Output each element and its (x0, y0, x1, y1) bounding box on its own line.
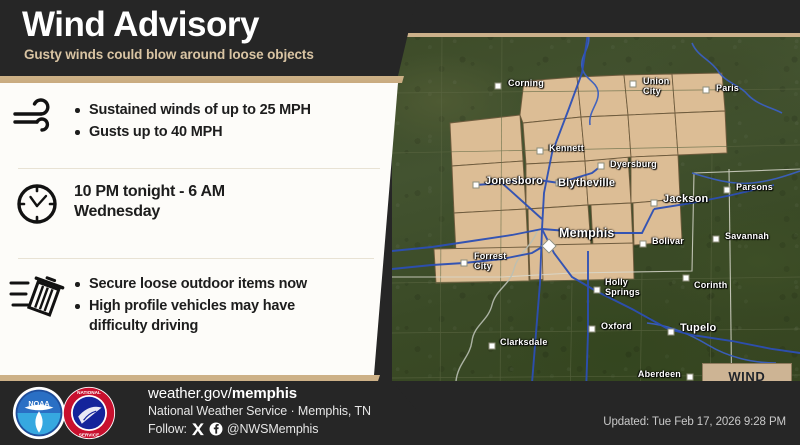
wind-bullet-list: Sustained winds of up to 25 MPH Gusts up… (74, 100, 311, 142)
section-timing: 10 PM tonight - 6 AM Wednesday (0, 180, 392, 228)
timing-line-1: 10 PM tonight - 6 AM (74, 182, 225, 202)
wind-icon-container (0, 98, 74, 138)
city-label: Oxford (601, 322, 632, 332)
city-label: Holly Springs (605, 278, 640, 297)
follow-label: Follow: (148, 422, 187, 436)
header-divider-bar (0, 76, 404, 83)
city-label: Forrest City (474, 252, 506, 271)
section-preparedness: Secure loose outdoor items now High prof… (0, 272, 392, 338)
city-label: Memphis (559, 229, 615, 239)
follow-line: Follow: @NWSMemphis (148, 422, 318, 436)
city-marker (703, 87, 710, 94)
city-label: Jonesboro (485, 177, 543, 187)
city-label: Blytheville (558, 179, 615, 189)
city-marker (668, 329, 675, 336)
preparedness-text-block: Secure loose outdoor items now High prof… (74, 272, 322, 338)
timing-line-2: Wednesday (74, 202, 225, 222)
city-label: Kennett (549, 144, 584, 154)
preparedness-bullet-2: High profile vehicles may have difficult… (74, 296, 322, 336)
wind-advisory-graphic: CorningKennettUnion CityParisDyersburgJo… (0, 0, 800, 445)
city-label: Union City (643, 77, 670, 96)
advisory-map[interactable]: CorningKennettUnion CityParisDyersburgJo… (392, 33, 800, 413)
header-bar: Wind Advisory Gusty winds could blow aro… (0, 0, 416, 76)
national-weather-service-logo: NATIONAL SERVICE (62, 386, 116, 440)
clock-icon (13, 180, 61, 228)
svg-text:SERVICE: SERVICE (79, 432, 99, 437)
city-marker (598, 163, 605, 170)
facebook-icon[interactable] (209, 422, 223, 436)
office-line: National Weather Service · Memphis, TN (148, 404, 371, 418)
city-marker (640, 241, 647, 248)
updated-timestamp: Updated: Tue Feb 17, 2026 9:28 PM (603, 416, 786, 428)
city-marker (489, 343, 496, 350)
city-marker (713, 236, 720, 243)
city-label: Tupelo (680, 324, 716, 334)
map-frame-top (392, 33, 800, 37)
preparedness-bullet-list: Secure loose outdoor items now High prof… (74, 274, 322, 336)
city-marker (594, 287, 601, 294)
city-label: Clarksdale (500, 338, 548, 348)
city-marker (495, 83, 502, 90)
city-marker (461, 260, 468, 267)
clock-icon-container (0, 180, 74, 228)
city-label: Savannah (725, 232, 769, 242)
trash-can-icon (8, 272, 66, 318)
divider-2 (18, 258, 374, 259)
city-marker (724, 187, 731, 194)
trash-can-icon-container (0, 272, 74, 318)
city-marker (651, 200, 658, 207)
city-marker (537, 148, 544, 155)
city-label: Corning (508, 79, 544, 89)
social-handle: @NWSMemphis (227, 422, 318, 436)
city-marker (473, 182, 480, 189)
city-label: Corinth (694, 281, 727, 291)
wind-icon (11, 98, 63, 138)
svg-text:NOAA: NOAA (28, 399, 49, 408)
wind-bullet-1: Sustained winds of up to 25 MPH (74, 100, 311, 120)
city-label: Bolivar (652, 237, 684, 247)
timing-text-block: 10 PM tonight - 6 AM Wednesday (74, 180, 225, 222)
section-wind: Sustained winds of up to 25 MPH Gusts up… (0, 98, 392, 144)
city-marker (630, 81, 637, 88)
x-icon[interactable] (191, 422, 205, 436)
page-subtitle: Gusty winds could blow around loose obje… (24, 47, 314, 62)
wind-text-block: Sustained winds of up to 25 MPH Gusts up… (74, 98, 311, 144)
city-marker (683, 275, 690, 282)
noaa-logo: NOAA (12, 386, 66, 440)
city-label: Jackson (663, 195, 708, 205)
city-label: Aberdeen (638, 370, 681, 380)
city-label: Paris (716, 84, 739, 94)
svg-text:NATIONAL: NATIONAL (77, 390, 101, 395)
city-marker (589, 326, 596, 333)
website-office: memphis (232, 385, 297, 402)
divider-1 (18, 168, 380, 169)
website-prefix: weather.gov/ (148, 385, 232, 402)
city-marker (687, 374, 694, 381)
website-line: weather.gov/memphis (148, 385, 297, 402)
city-label: Parsons (736, 183, 773, 193)
preparedness-bullet-1: Secure loose outdoor items now (74, 274, 322, 294)
city-label: Dyersburg (610, 160, 657, 170)
wind-bullet-2: Gusts up to 40 MPH (74, 122, 311, 142)
page-title: Wind Advisory (22, 5, 259, 45)
